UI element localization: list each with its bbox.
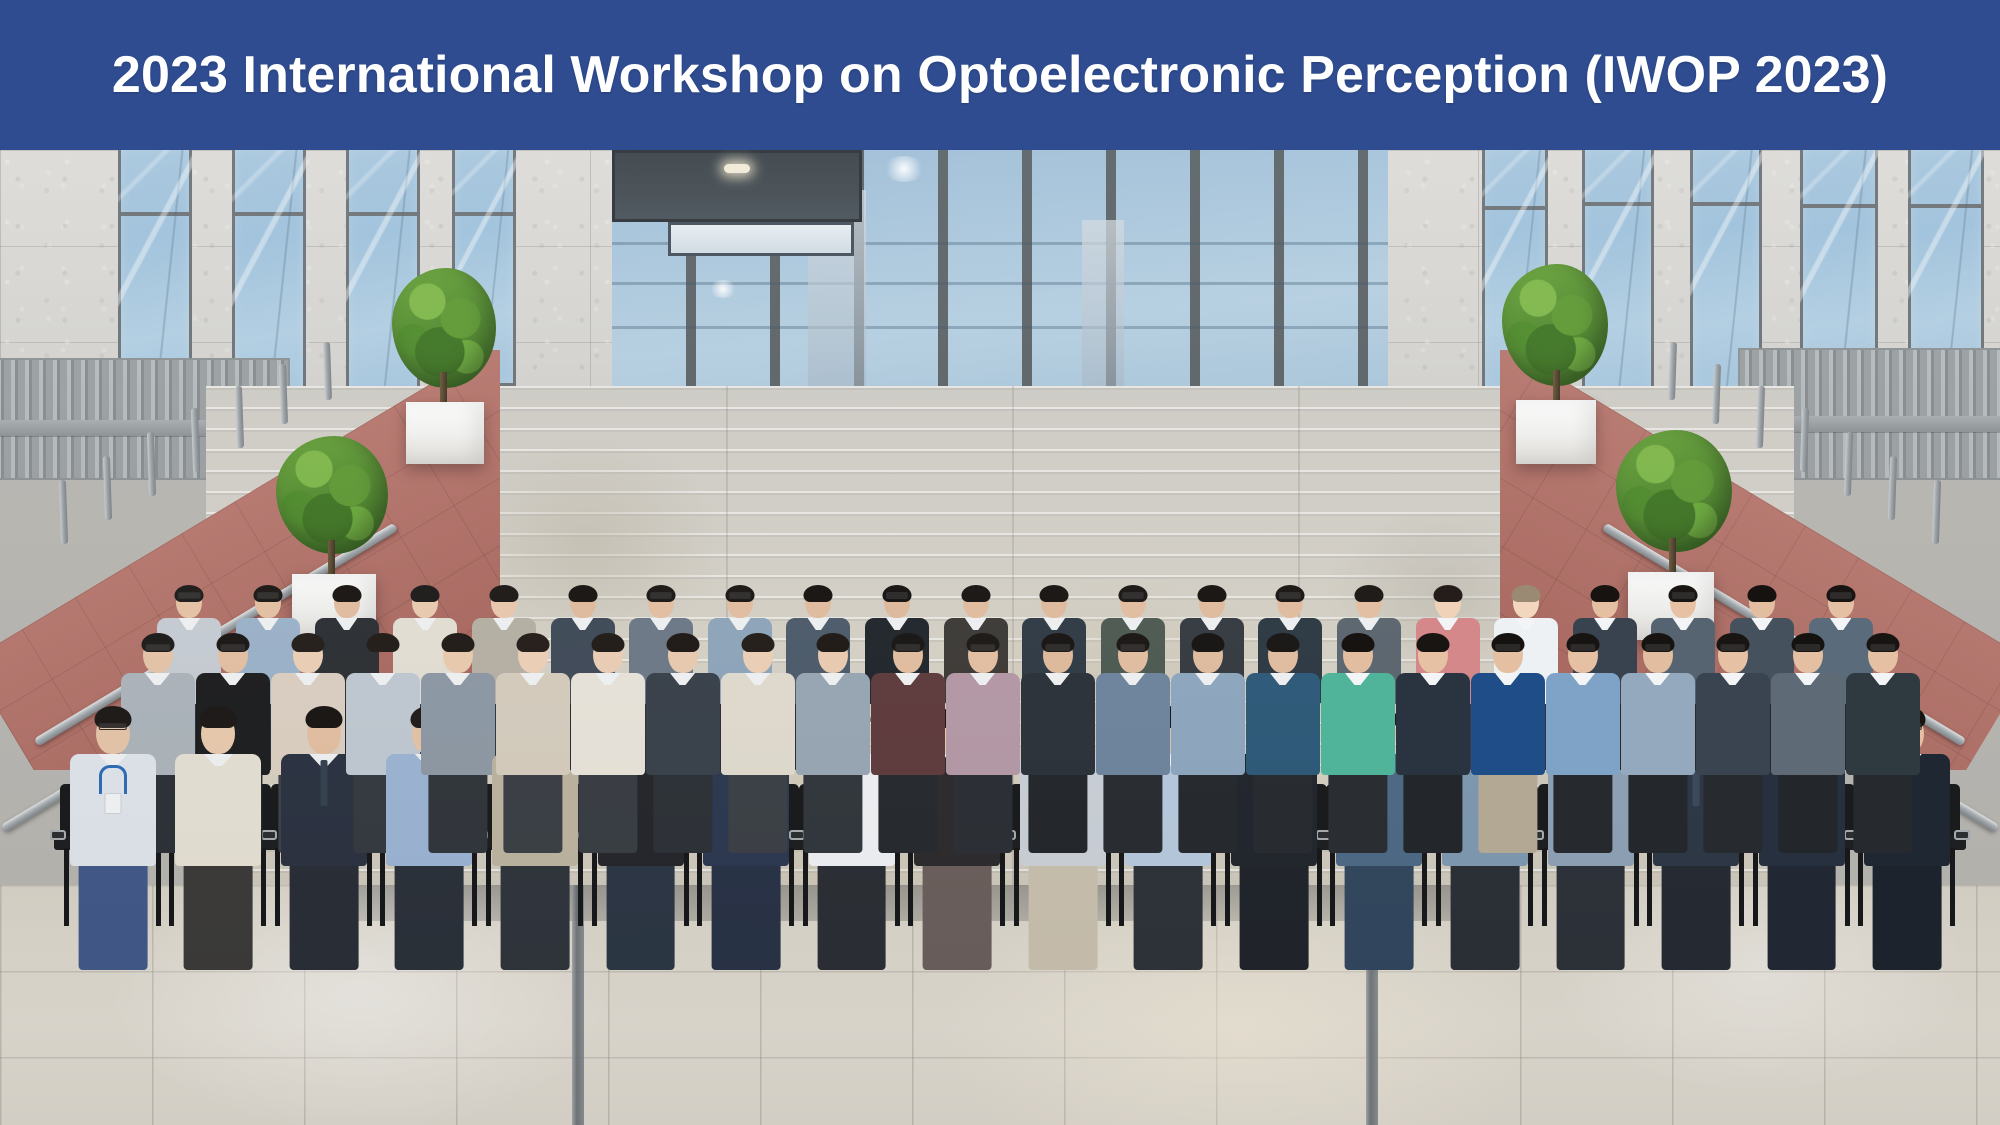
legs [78,860,147,970]
chair-leg [1739,848,1744,926]
legs [923,860,992,970]
legs [1178,769,1237,853]
glasses-icon [1830,592,1852,599]
person [1171,630,1245,853]
hair [804,585,833,602]
person [646,630,720,853]
glasses-icon [145,644,170,651]
hair [1512,585,1541,602]
chair-leg [1000,848,1005,926]
legs [1778,769,1837,853]
legs [1028,860,1097,970]
torso [1171,673,1245,775]
legs [1553,769,1612,853]
legs [606,860,675,970]
chair-leg [1422,848,1427,926]
glasses-icon [650,592,672,599]
hair [1354,585,1383,602]
person [571,630,645,853]
legs [1478,769,1537,853]
chair-leg [578,848,583,926]
chair-leg [486,848,491,926]
torso [1021,673,1095,775]
chair-leg [472,848,477,926]
legs [1028,769,1087,853]
chair-leg [1845,848,1850,926]
legs [578,769,637,853]
glasses-icon [1279,592,1301,599]
person [796,630,870,853]
person [1471,630,1545,853]
legs [1556,860,1625,970]
chair-leg [803,848,808,926]
legs [1239,860,1308,970]
glasses-icon [178,592,200,599]
person [1246,630,1320,853]
chair-leg [64,848,69,926]
person [1696,630,1770,853]
chair-leg [156,848,161,926]
hair [516,633,549,652]
hair [291,633,324,652]
chair-leg [895,848,900,926]
hair [305,706,342,728]
person [1396,630,1470,853]
glasses-icon [220,644,245,651]
legs [1451,860,1520,970]
legs [1345,860,1414,970]
legs [1403,769,1462,853]
chair-leg [1634,848,1639,926]
chair-leg [1014,848,1019,926]
glasses-icon [970,644,995,651]
chair-leg [1211,848,1216,926]
necktie [320,760,327,806]
hair [1748,585,1777,602]
glasses-icon [1122,592,1144,599]
torso [1096,673,1170,775]
chair-leg [684,848,689,926]
hair [1197,585,1226,602]
person [1321,630,1395,853]
header-banner: 2023 International Workshop on Optoelect… [0,0,2000,150]
glasses-icon [1645,644,1670,651]
hair [816,633,849,652]
legs [1103,769,1162,853]
hair [1040,585,1069,602]
torso [1246,673,1320,775]
torso [721,673,795,775]
chair-leg [1317,848,1322,926]
hair [1590,585,1619,602]
person [175,706,261,970]
torso [1396,673,1470,775]
hair [1341,633,1374,652]
chair-leg [1436,848,1441,926]
legs [184,860,253,970]
glasses-icon [729,592,751,599]
person [1546,630,1620,853]
glasses-icon [99,723,128,730]
torso [796,673,870,775]
legs [1703,769,1762,853]
glasses-icon [1570,644,1595,651]
chair-leg [1119,848,1124,926]
hair [1266,633,1299,652]
hair [591,633,624,652]
torso [1621,673,1695,775]
legs [653,769,712,853]
chair-leg [1647,848,1652,926]
legs [428,769,487,853]
glasses-icon [1495,644,1520,651]
legs [1873,860,1942,970]
glasses-icon [895,644,920,651]
page-title: 2023 International Workshop on Optoelect… [0,0,2000,150]
person [1621,630,1695,853]
chair-leg [908,848,913,926]
chair-arm-nub [50,830,66,840]
legs [501,860,570,970]
hair [961,585,990,602]
hair [441,633,474,652]
legs [878,769,937,853]
person [871,630,945,853]
legs [803,769,862,853]
torso [1546,673,1620,775]
torso [175,754,261,866]
chair-leg [1528,848,1533,926]
chair-leg [592,848,597,926]
person [70,706,156,970]
legs [289,860,358,970]
chair-leg [789,848,794,926]
chair-leg [1542,848,1547,926]
person [1846,630,1920,853]
person [496,630,570,853]
chair-leg [1753,848,1758,926]
person [421,630,495,853]
legs [1134,860,1203,970]
hair [1433,585,1462,602]
glasses-icon [1720,644,1745,651]
hair [666,633,699,652]
torso [871,673,945,775]
torso [1321,673,1395,775]
hair [366,633,399,652]
hair [200,706,237,728]
chair-leg [697,848,702,926]
person [1771,630,1845,853]
person [721,630,795,853]
chair-leg [1950,848,1955,926]
hair [741,633,774,652]
torso [646,673,720,775]
lanyard [99,765,127,794]
hair [568,585,597,602]
screenshot-root: 2023 International Workshop on Optoelect… [0,0,2000,1125]
legs [712,860,781,970]
glasses-icon [1795,644,1820,651]
name-badge [104,793,121,814]
glasses-icon [1870,644,1895,651]
chair-leg [380,848,385,926]
person [946,630,1020,853]
hair [332,585,361,602]
torso [571,673,645,775]
torso [1771,673,1845,775]
person [1021,630,1095,853]
legs [1853,769,1912,853]
chair-leg [367,848,372,926]
torso [946,673,1020,775]
glasses-icon [1045,644,1070,651]
torso [1846,673,1920,775]
legs [1767,860,1836,970]
legs [1628,769,1687,853]
hair [411,585,440,602]
hair [489,585,518,602]
group-photo [0,150,2000,1125]
glasses-icon [886,592,908,599]
legs [1328,769,1387,853]
legs [395,860,464,970]
chair-leg [1106,848,1111,926]
chair-leg [1225,848,1230,926]
legs [953,769,1012,853]
legs [817,860,886,970]
torso [1471,673,1545,775]
legs [503,769,562,853]
legs [1662,860,1731,970]
chair-leg [1858,848,1863,926]
chair-leg [261,848,266,926]
hair [1191,633,1224,652]
glasses-icon [1672,592,1694,599]
chair-leg [275,848,280,926]
torso [421,673,495,775]
legs [1253,769,1312,853]
glasses-icon [257,592,279,599]
glasses-icon [1120,644,1145,651]
chair-arm-nub [1954,830,1970,840]
chair-leg [1330,848,1335,926]
torso [1696,673,1770,775]
person [1096,630,1170,853]
hair [1416,633,1449,652]
legs [728,769,787,853]
torso [496,673,570,775]
chair-leg [169,848,174,926]
